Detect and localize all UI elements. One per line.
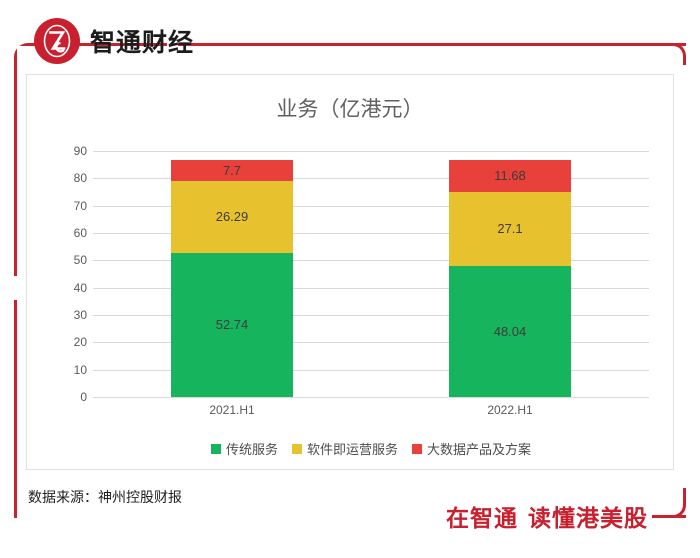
bar-value-label: 26.29: [216, 209, 249, 224]
chart-legend: 传统服务软件即运营服务大数据产品及方案: [93, 439, 649, 458]
bar-value-label: 48.04: [494, 324, 527, 339]
bar-segment[interactable]: 48.04: [449, 266, 571, 397]
y-axis-tick: 40: [74, 281, 87, 295]
bar-value-label: 11.68: [494, 168, 526, 183]
bar-segment[interactable]: 11.68: [449, 160, 571, 192]
y-axis-tick: 30: [74, 308, 87, 322]
bar-value-label: 7.7: [223, 163, 241, 178]
y-axis: 9080706050403020100: [59, 151, 87, 397]
legend-swatch-icon: [292, 444, 302, 454]
legend-label: 传统服务: [226, 439, 278, 458]
legend-item[interactable]: 大数据产品及方案: [412, 439, 531, 458]
x-axis-tick: 2021.H1: [209, 403, 254, 417]
bar-segment[interactable]: 7.7: [171, 160, 293, 181]
gridline: [93, 397, 649, 398]
legend-label: 软件即运营服务: [307, 439, 398, 458]
plot-area: 9080706050403020100 52.7426.297.72021.H1…: [59, 151, 649, 471]
chart-card: 业务（亿港元） 9080706050403020100 52.7426.297.…: [26, 74, 674, 470]
zhitong-z-monogram-icon: [34, 18, 80, 64]
legend-label: 大数据产品及方案: [427, 439, 531, 458]
tagline-left: 在智通: [446, 505, 518, 531]
legend-swatch-icon: [211, 444, 221, 454]
legend-swatch-icon: [412, 444, 422, 454]
legend-item[interactable]: 传统服务: [211, 439, 278, 458]
bar-segment[interactable]: 26.29: [171, 181, 293, 253]
y-axis-tick: 80: [74, 171, 87, 185]
y-axis-tick: 10: [74, 363, 87, 377]
brand-name: 智通财经: [90, 23, 194, 59]
bar-value-label: 52.74: [216, 317, 249, 332]
brand-tagline: 在智通读懂港美股: [446, 499, 648, 533]
chart-title: 业务（亿港元）: [27, 93, 673, 123]
bar-segment[interactable]: 52.74: [171, 253, 293, 397]
data-source-note: 数据来源：神州控股财报: [28, 487, 182, 507]
y-axis-tick: 70: [74, 199, 87, 213]
bar-value-label: 27.1: [497, 221, 522, 236]
y-axis-tick: 20: [74, 335, 87, 349]
brand-header: 智通财经: [34, 18, 194, 64]
legend-item[interactable]: 软件即运营服务: [292, 439, 398, 458]
y-axis-tick: 60: [74, 226, 87, 240]
y-axis-tick: 90: [74, 144, 87, 158]
frame-corner-bottom-right: [671, 488, 686, 518]
bar-group[interactable]: 52.7426.297.7: [171, 160, 293, 397]
footer-rule: [652, 515, 686, 518]
bar-series-container: 52.7426.297.72021.H148.0427.111.682022.H…: [93, 151, 649, 397]
header-rule: [178, 43, 686, 46]
frame-corner-top-right: [671, 43, 686, 65]
y-axis-tick: 0: [80, 390, 87, 404]
bar-segment[interactable]: 27.1: [449, 192, 571, 266]
tagline-right: 读懂港美股: [528, 505, 648, 531]
y-axis-tick: 50: [74, 253, 87, 267]
bar-group[interactable]: 48.0427.111.68: [449, 160, 571, 397]
x-axis-tick: 2022.H1: [487, 403, 532, 417]
